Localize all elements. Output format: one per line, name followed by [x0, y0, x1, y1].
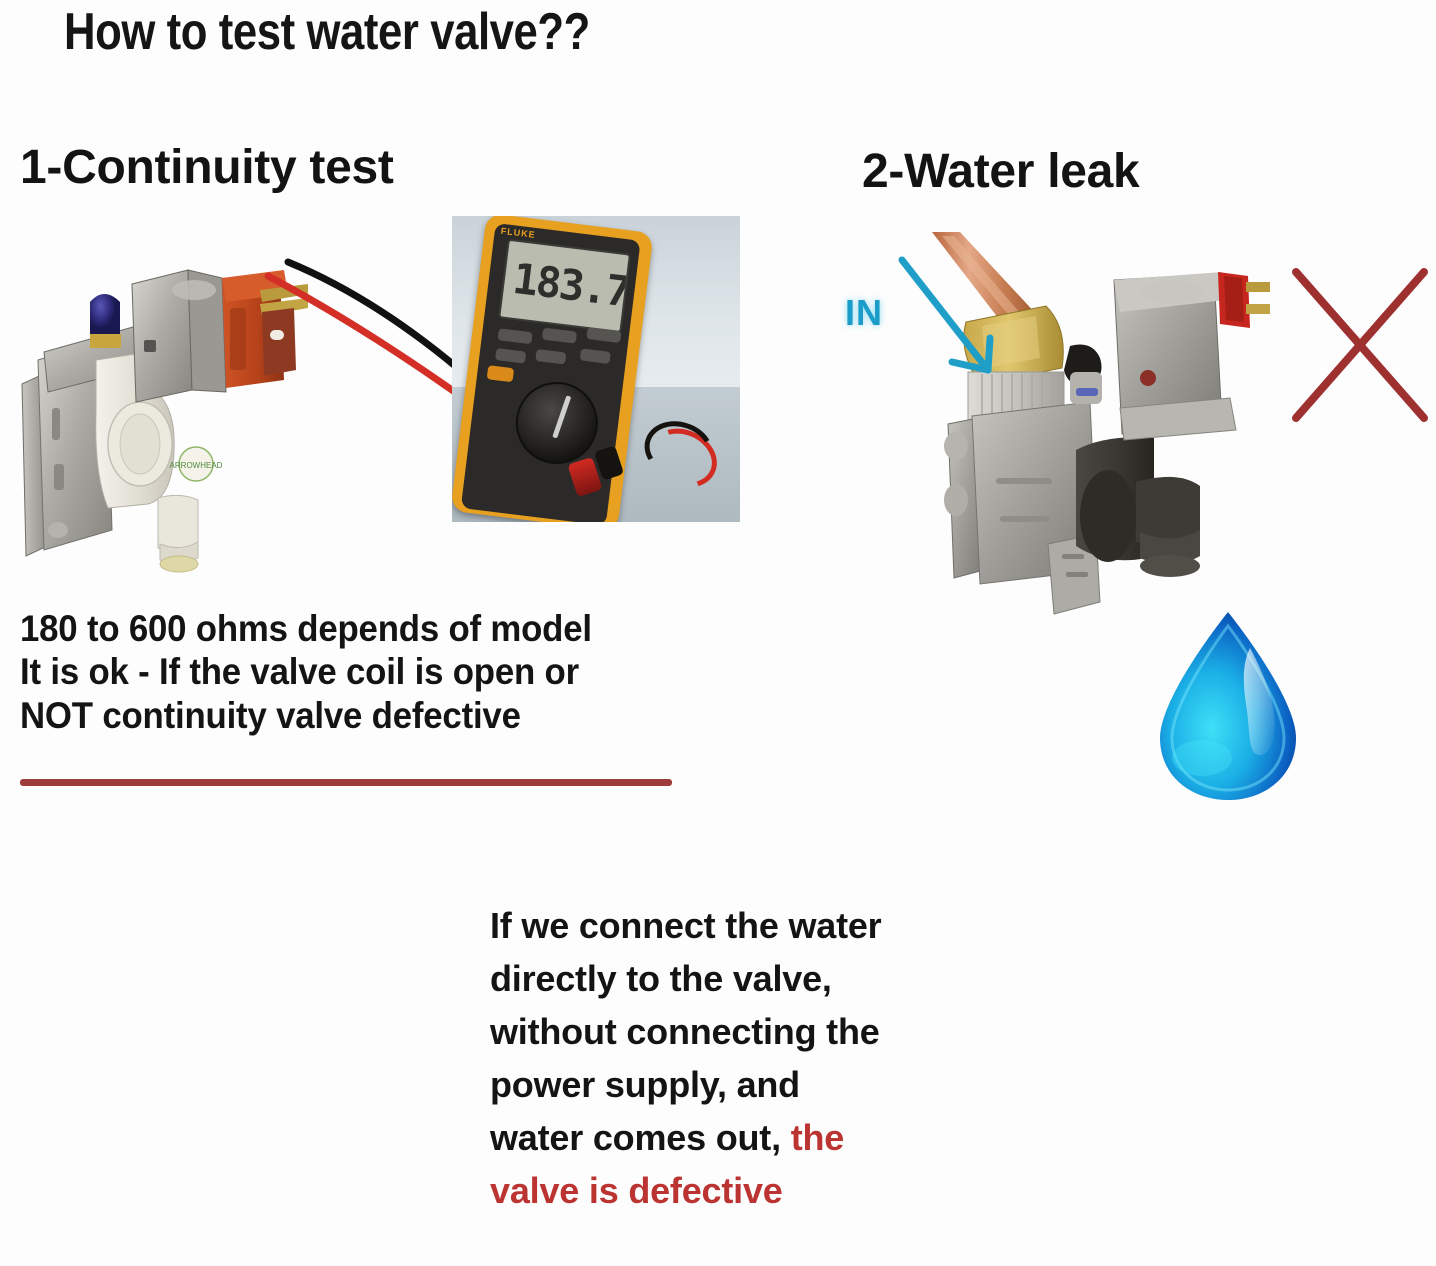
multimeter-brand-label: FLUKE: [500, 226, 536, 240]
page-title: How to test water valve??: [64, 2, 590, 62]
multimeter-rotary-dial[interactable]: [511, 377, 602, 468]
continuity-note-line: It is ok - If the valve coil is open or: [20, 651, 592, 692]
multimeter-button[interactable]: [580, 348, 611, 364]
continuity-note-line: 180 to 600 ohms depends of model: [20, 608, 592, 649]
inlet-label: IN: [845, 292, 883, 334]
multimeter-button[interactable]: [535, 349, 566, 365]
red-underline-divider: [20, 779, 672, 786]
multimeter-button[interactable]: [495, 348, 526, 364]
conclusion-text: If we connect the water directly to the …: [490, 900, 1010, 1217]
section-heading-water-leak: 2-Water leak: [862, 144, 1139, 199]
conclusion-line: power supply, and: [490, 1059, 1010, 1112]
inlet-arrow-icon: [890, 250, 1050, 410]
instruction-poster: How to test water valve?? 1-Continuity t…: [0, 0, 1436, 1266]
conclusion-highlight-the: the: [791, 1117, 844, 1158]
multimeter-reading-value: 183.7: [510, 254, 631, 317]
conclusion-line: If we connect the water: [490, 900, 1010, 953]
red-x-icon: [1288, 266, 1432, 426]
continuity-notes: 180 to 600 ohms depends of model It is o…: [20, 608, 592, 738]
conclusion-plain-text: water comes out,: [490, 1117, 791, 1158]
conclusion-line-mixed: water comes out, the: [490, 1112, 1010, 1165]
conclusion-line: without connecting the: [490, 1006, 1010, 1059]
section-heading-continuity-test: 1-Continuity test: [20, 140, 394, 195]
water-drop-icon: [1146, 608, 1310, 804]
multimeter-photo: FLUKE 183.7: [452, 216, 740, 522]
multimeter-display: 183.7: [498, 239, 631, 334]
multimeter-button[interactable]: [542, 328, 577, 344]
conclusion-highlight-final: valve is defective: [490, 1165, 1010, 1218]
multimeter-button[interactable]: [497, 328, 532, 344]
multimeter-body: FLUKE 183.7: [452, 216, 654, 522]
water-valve-photo-left: ARROWHEAD: [8, 212, 308, 590]
continuity-note-line: NOT continuity valve defective: [20, 695, 592, 736]
svg-text:ARROWHEAD: ARROWHEAD: [170, 461, 223, 470]
multimeter-power-button[interactable]: [487, 365, 515, 382]
conclusion-line: directly to the valve,: [490, 953, 1010, 1006]
